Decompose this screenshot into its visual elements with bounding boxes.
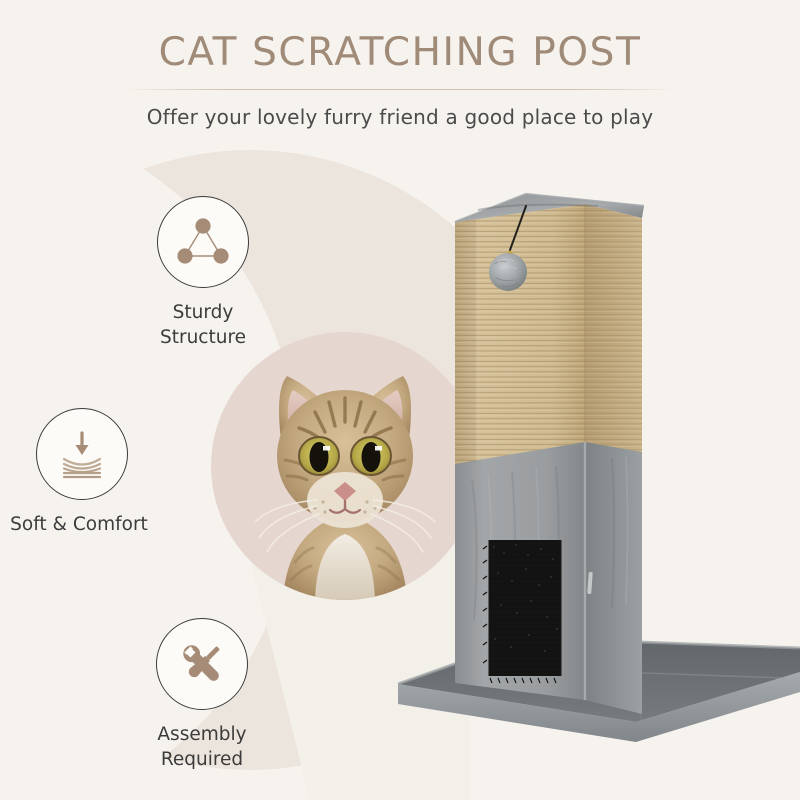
sisal-column <box>455 204 642 464</box>
feature-icon-ring <box>156 618 248 710</box>
feature-sturdy-structure: Sturdy Structure <box>133 196 273 350</box>
page-title: CAT SCRATCHING POST <box>0 0 800 75</box>
infographic-page: CAT SCRATCHING POST Offer your lovely fu… <box>0 0 800 800</box>
feature-label: Assembly Required <box>97 722 307 772</box>
product-image <box>380 180 800 800</box>
feature-soft-comfort: Soft & Comfort <box>36 408 128 537</box>
groomer-brush-panel <box>483 540 561 683</box>
cat-scratching-post-illustration <box>380 180 800 800</box>
header: CAT SCRATCHING POST Offer your lovely fu… <box>0 0 800 129</box>
page-subtitle: Offer your lovely furry friend a good pl… <box>0 90 800 129</box>
feature-label: Soft & Comfort <box>0 512 244 537</box>
crossed-tools-icon <box>171 633 233 695</box>
feature-icon-ring <box>157 196 249 288</box>
triangle-nodes-icon <box>172 211 234 273</box>
arrow-cushion-icon <box>51 423 113 485</box>
feature-assembly-required: Assembly Required <box>152 618 252 772</box>
feature-icon-ring <box>36 408 128 500</box>
